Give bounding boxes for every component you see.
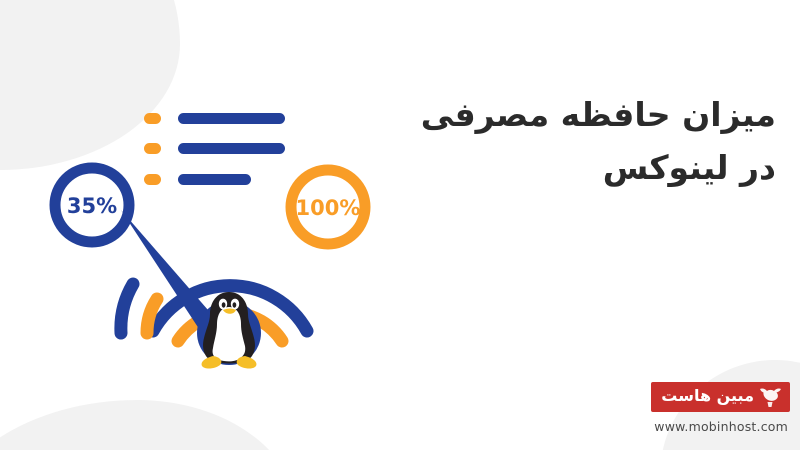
brand-logo[interactable]: مبین هاست www.mobinhost.com — [640, 382, 790, 434]
headline: میزان حافظه مصرفی در لینوکس — [376, 88, 776, 195]
logo-badge[interactable]: مبین هاست — [651, 382, 790, 412]
bullet-bar — [178, 143, 285, 154]
bullet-list — [144, 113, 285, 185]
tux-penguin-icon — [202, 292, 257, 369]
gauge-left-outer-tick — [121, 284, 133, 333]
bullet-bar — [178, 174, 251, 185]
gauge-illustration: 35% 100% — [45, 88, 385, 373]
bull-head-icon — [758, 386, 782, 408]
bullet-dot — [144, 174, 161, 185]
bullet-bar — [178, 113, 285, 124]
promo-banner: 35% 100% میزان حافظه مصرفی در لینوکس مبی… — [0, 0, 800, 450]
logo-url: www.mobinhost.com — [640, 419, 790, 434]
decorative-blob-bottom-left — [0, 400, 300, 450]
badge-100-percent-label: 100% — [296, 196, 361, 220]
badge-100-percent[interactable]: 100% — [291, 170, 365, 244]
badge-35-percent-label: 35% — [67, 194, 117, 218]
bullet-dot — [144, 113, 161, 124]
headline-line-2: در لینوکس — [376, 141, 776, 194]
badge-35-percent[interactable]: 35% — [55, 168, 129, 242]
logo-brand-name: مبین هاست — [661, 388, 754, 406]
headline-line-1: میزان حافظه مصرفی — [376, 88, 776, 141]
bullet-dot — [144, 143, 161, 154]
